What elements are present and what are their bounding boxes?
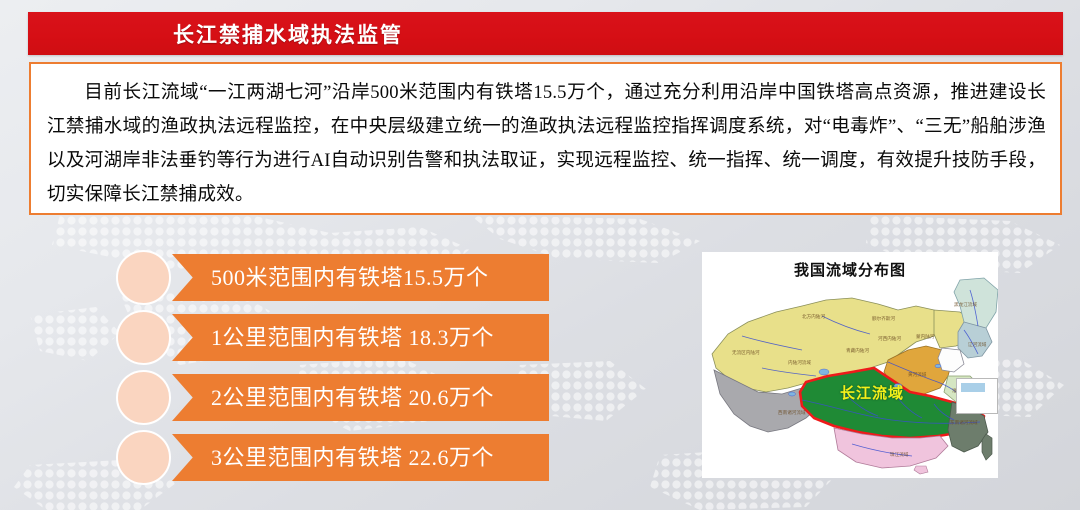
list-item-label: 500米范围内有铁塔15.5万个 [211, 254, 489, 301]
bullet-circle-icon [116, 430, 171, 485]
svg-text:西南诸河流域: 西南诸河流域 [778, 409, 806, 416]
description-paragraph: 目前长江流域“一江两湖七河”沿岸500米范围内有铁塔15.5万个，通过充分利用沿… [47, 76, 1046, 212]
slide-canvas: 长江禁捕水域执法监管 目前长江流域“一江两湖七河”沿岸500米范围内有铁塔15.… [0, 0, 1080, 510]
svg-text:东南诸河流域: 东南诸河流域 [950, 419, 978, 426]
slide-title-bar: 长江禁捕水域执法监管 [28, 12, 1063, 55]
list-item[interactable]: 3公里范围内有铁塔 22.6万个 [116, 434, 549, 481]
bullet-circle-icon [116, 370, 171, 425]
svg-text:额尔齐斯河: 额尔齐斯河 [872, 315, 895, 322]
map-illustration: 黑龙江流域 辽河流域 内陆河流域 黄河流域 淮河流域 珠江流域 西南诸河流域 东… [702, 276, 998, 478]
svg-text:珠江流域: 珠江流域 [890, 451, 909, 458]
svg-text:河西内陆河: 河西内陆河 [878, 335, 901, 342]
page-title: 长江禁捕水域执法监管 [173, 19, 403, 49]
map-inset-box [956, 378, 998, 414]
svg-text:辽河流域: 辽河流域 [968, 341, 987, 348]
svg-text:北方内陆河: 北方内陆河 [802, 313, 825, 320]
svg-text:内陆河流域: 内陆河流域 [788, 359, 811, 366]
svg-text:黄河流域: 黄河流域 [908, 371, 927, 378]
list-item-label: 1公里范围内有铁塔 18.3万个 [211, 314, 494, 361]
svg-text:无流区内陆河: 无流区内陆河 [732, 349, 760, 356]
svg-text:黑龙江流域: 黑龙江流域 [954, 301, 977, 308]
svg-text:蒙内陆河: 蒙内陆河 [916, 333, 935, 340]
watershed-map-image: 我国流域分布图 [702, 252, 998, 478]
list-item[interactable]: 1公里范围内有铁塔 18.3万个 [116, 314, 549, 361]
list-item[interactable]: 500米范围内有铁塔15.5万个 [116, 254, 549, 301]
bullet-circle-icon [116, 310, 171, 365]
svg-text:青藏内陆河: 青藏内陆河 [846, 347, 869, 354]
list-item-label: 3公里范围内有铁塔 22.6万个 [211, 434, 494, 481]
list-item-label: 2公里范围内有铁塔 20.6万个 [211, 374, 494, 421]
description-panel: 目前长江流域“一江两湖七河”沿岸500米范围内有铁塔15.5万个，通过充分利用沿… [29, 62, 1062, 215]
list-item[interactable]: 2公里范围内有铁塔 20.6万个 [116, 374, 549, 421]
bullet-circle-icon [116, 250, 171, 305]
